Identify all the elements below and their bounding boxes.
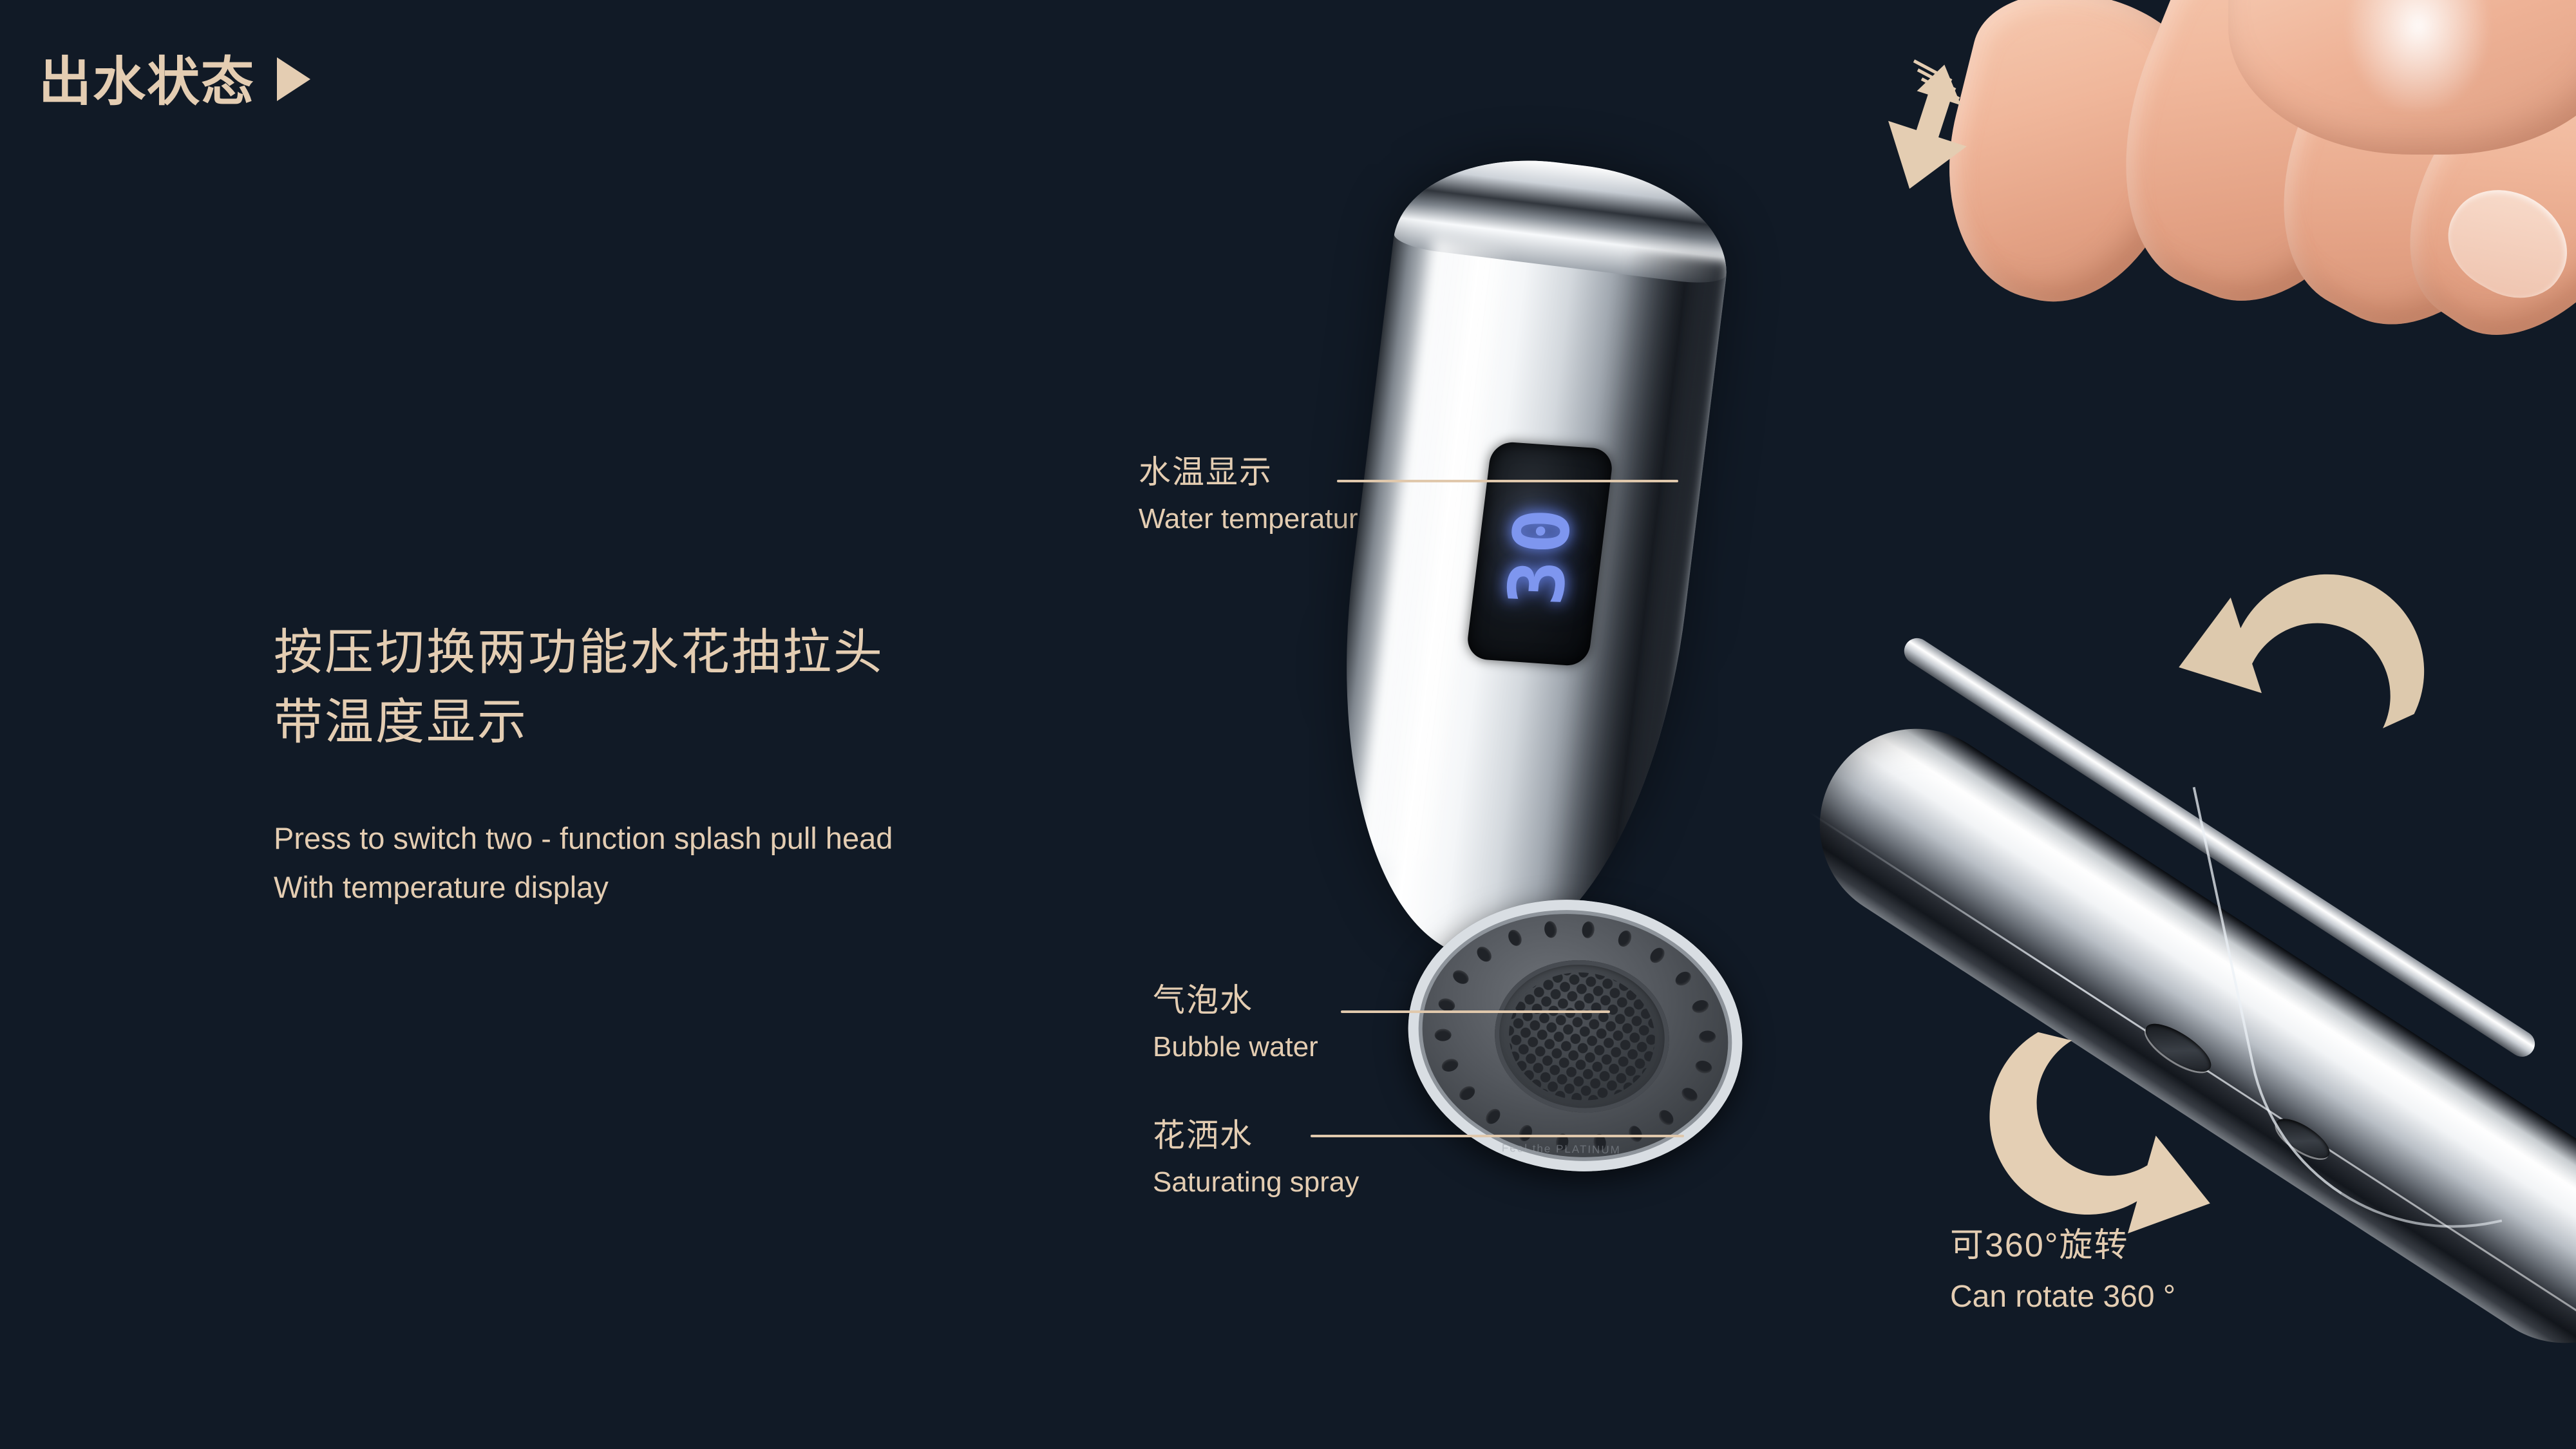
rotate-clockwise-icon xyxy=(1971,985,2254,1262)
leader-line-water-temperature xyxy=(1337,480,1678,482)
product-feature-slide: 出水状态 按压切换两功能水花抽拉头 带温度显示 Press to switch … xyxy=(0,0,2576,1449)
leader-line-saturating-spray xyxy=(1311,1135,1684,1137)
spout-release-slot xyxy=(2270,1112,2335,1166)
nozzle-rim-text: Feel the PLATINUM xyxy=(1502,1142,1621,1157)
down-arrow-icon xyxy=(1874,57,1996,205)
motion-lines xyxy=(1911,57,1989,102)
rotate-counterclockwise-icon xyxy=(2164,554,2441,824)
aerator-mesh xyxy=(1502,964,1663,1108)
led-temperature-value: 30 xyxy=(1491,500,1589,607)
leader-line-bubble-water xyxy=(1341,1010,1610,1013)
nozzle-face: Feel the PLATINUM xyxy=(1392,881,1757,1190)
product-photo: 30 Feel the PLATINUM xyxy=(0,0,2576,1449)
